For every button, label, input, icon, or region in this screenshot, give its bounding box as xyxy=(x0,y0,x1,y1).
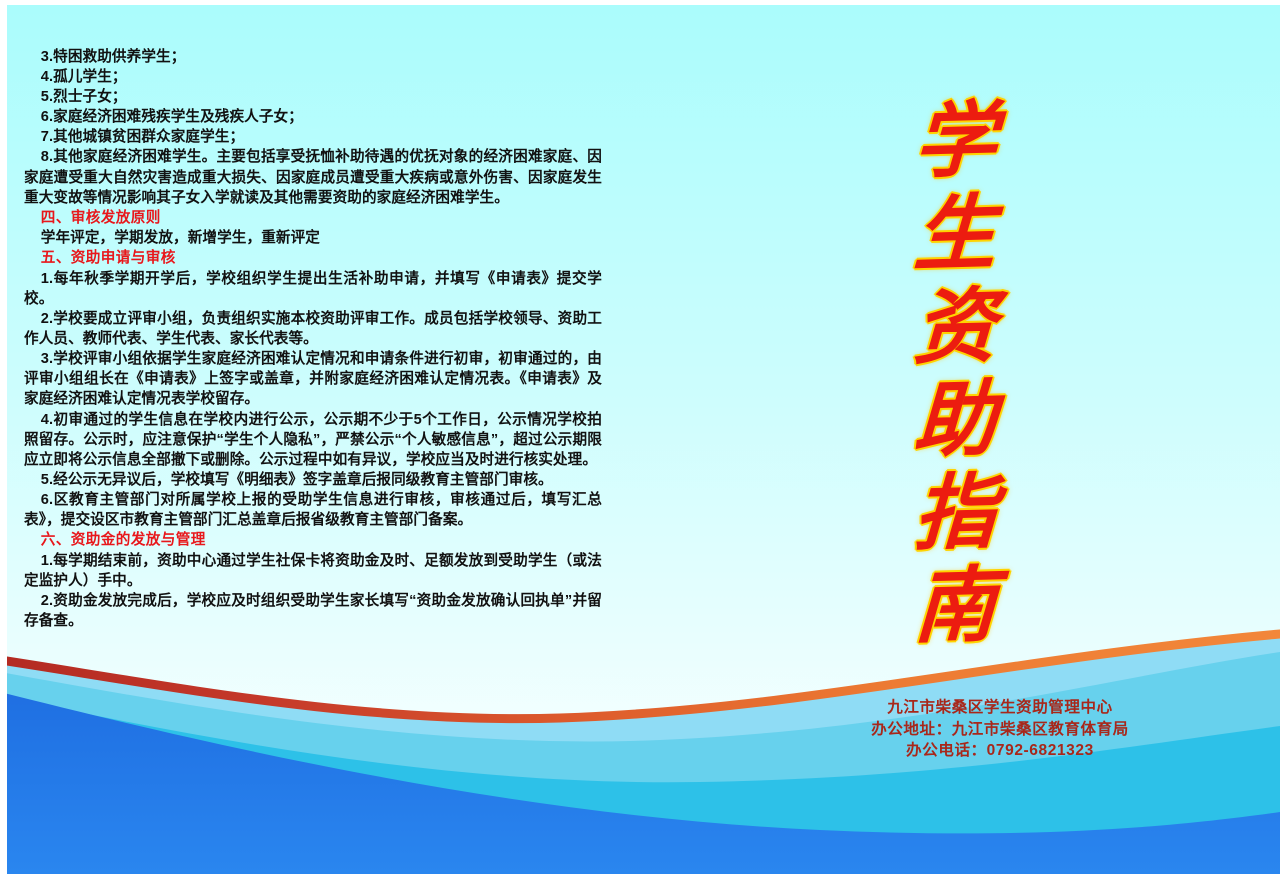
list-item: 4.孤儿学生； xyxy=(24,67,602,87)
poster-canvas: 3.特困救助供养学生； 4.孤儿学生； 5.烈士子女； 6.家庭经济困难残疾学生… xyxy=(0,0,1280,874)
footer-org-name: 九江市柴桑区学生资助管理中心 xyxy=(800,697,1200,719)
list-item: 4.初审通过的学生信息在学校内进行公示，公示期不少于5个工作日，公示情况学校拍照… xyxy=(24,410,602,470)
section-four-body: 学年评定，学期发放，新增学生，重新评定 xyxy=(24,228,602,248)
title-char-3: 资 xyxy=(878,279,1032,376)
title-char-6: 南 xyxy=(878,558,1032,655)
section-heading-six: 六、资助金的发放与管理 xyxy=(24,530,602,551)
list-item: 3.学校评审小组依据学生家庭经济困难认定情况和申请条件进行初审，初审通过的，由评… xyxy=(24,349,602,409)
list-item: 8.其他家庭经济困难学生。主要包括享受抚恤补助待遇的优抚对象的经济困难家庭、因家… xyxy=(24,147,602,207)
list-item: 2.资助金发放完成后，学校应及时组织受助学生家长填写“资助金发放确认回执单”并留… xyxy=(24,591,602,631)
section-heading-four: 四、审核发放原则 xyxy=(24,208,602,229)
footer-address: 办公地址：九江市柴桑区教育体育局 xyxy=(800,719,1200,741)
section-heading-five: 五、资助申请与审核 xyxy=(24,248,602,269)
title-char-2: 生 xyxy=(878,186,1032,283)
page-border-top xyxy=(0,0,1280,5)
list-item: 1.每年秋季学期开学后，学校组织学生提出生活补助申请，并填写《申请表》提交学校。 xyxy=(24,269,602,309)
list-item: 7.其他城镇贫困群众家庭学生； xyxy=(24,127,602,147)
list-item: 5.烈士子女； xyxy=(24,87,602,107)
title-char-4: 助 xyxy=(878,372,1032,469)
list-item: 1.每学期结束前，资助中心通过学生社保卡将资助金及时、足额发放到受助学生（或法定… xyxy=(24,551,602,591)
article-body: 3.特困救助供养学生； 4.孤儿学生； 5.烈士子女； 6.家庭经济困难残疾学生… xyxy=(24,47,602,631)
page-border-left xyxy=(0,0,7,874)
list-item: 3.特困救助供养学生； xyxy=(24,47,602,67)
poster-title: 学 生 资 助 指 南 xyxy=(880,95,1030,653)
footer-contact-block: 九江市柴桑区学生资助管理中心 办公地址：九江市柴桑区教育体育局 办公电话：079… xyxy=(800,697,1200,762)
title-char-1: 学 xyxy=(878,93,1032,190)
list-item: 5.经公示无异议后，学校填写《明细表》签字盖章后报同级教育主管部门审核。 xyxy=(24,470,602,490)
footer-phone: 办公电话：0792-6821323 xyxy=(800,740,1200,762)
title-char-5: 指 xyxy=(878,465,1032,562)
list-item: 6.区教育主管部门对所属学校上报的受助学生信息进行审核，审核通过后，填写汇总表》… xyxy=(24,490,602,530)
list-item: 6.家庭经济困难残疾学生及残疾人子女； xyxy=(24,107,602,127)
list-item: 2.学校要成立评审小组，负责组织实施本校资助评审工作。成员包括学校领导、资助工作… xyxy=(24,309,602,349)
